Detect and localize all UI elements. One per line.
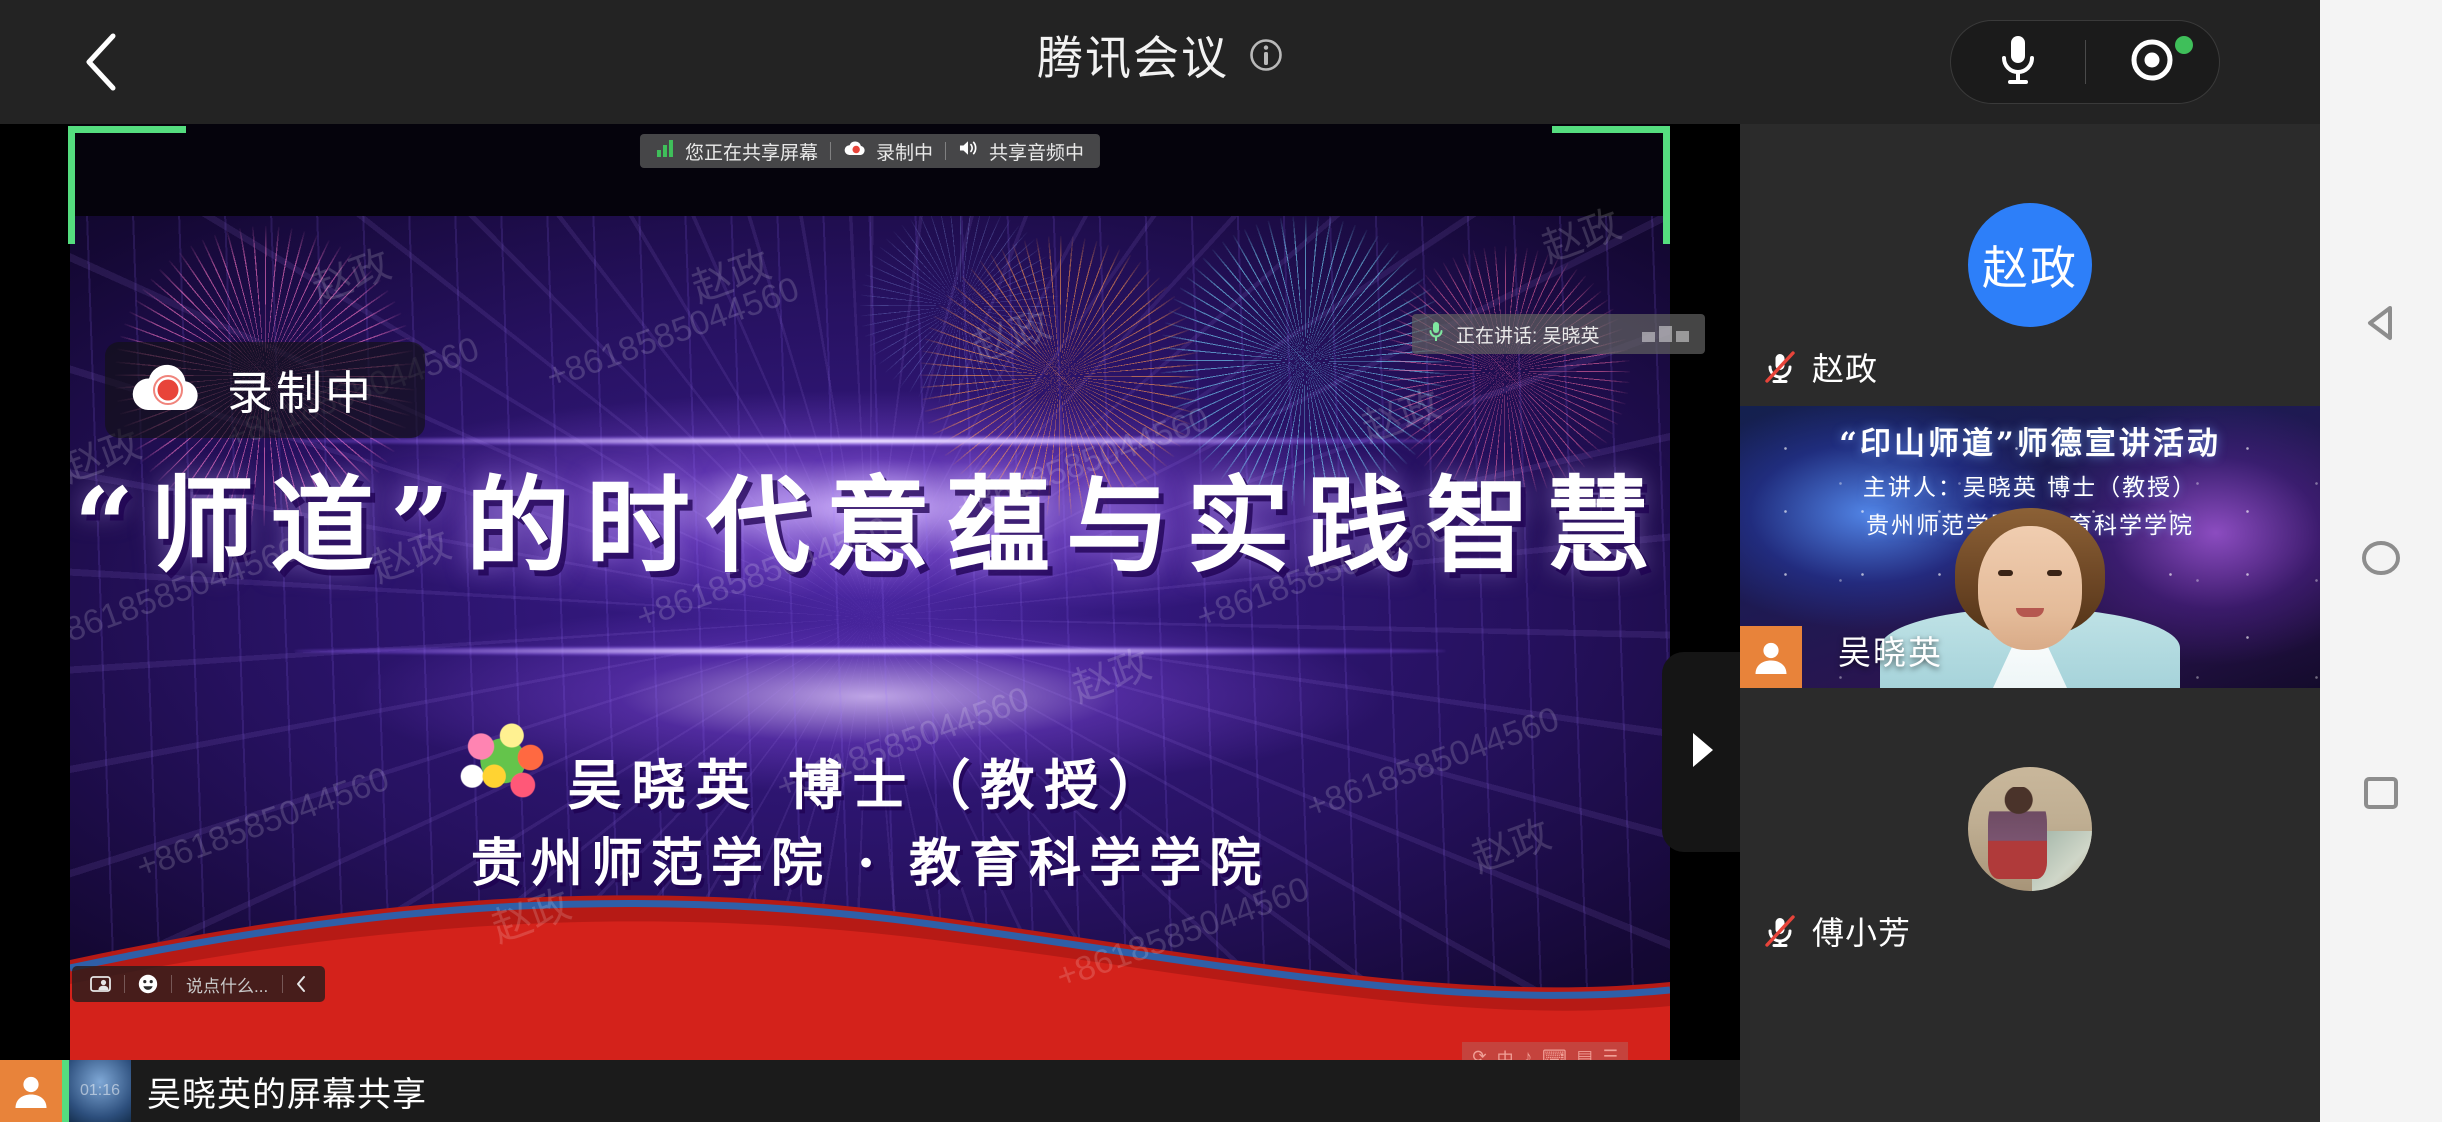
participant-name: 傅小芳 <box>1812 908 1911 954</box>
share-thumbnail[interactable]: 01:16 <box>69 1060 131 1122</box>
participant-tile-wuxiaoying[interactable]: “印山师道”师德宣讲活动 主讲人：吴晓英 博士（教授） 贵州师范学院 · 教育科… <box>1740 406 2320 688</box>
shared-screen-stage[interactable]: “师道”的时代意蕴与实践智慧 吴晓英 博士（教授） 贵州师范学院 · 教育科学学… <box>0 124 1740 1122</box>
avatar: 赵政 <box>1968 203 2092 327</box>
person-icon <box>0 1060 62 1122</box>
share-status-recording: 录制中 <box>843 138 933 165</box>
slide-presenter: 吴晓英 博士（教授） <box>70 741 1670 820</box>
participant-name: 吴晓英 <box>1838 626 1943 674</box>
share-status-bar: 您正在共享屏幕 录制中 <box>640 134 1100 168</box>
microphone-muted-icon <box>1762 349 1798 385</box>
record-active-indicator <box>2175 36 2193 54</box>
nav-back-button[interactable] <box>2320 275 2442 375</box>
sharer-bottom-bar: 01:16 吴晓英的屏幕共享 <box>0 1060 1740 1122</box>
info-circle-icon[interactable] <box>1249 38 1283 72</box>
avatar <box>1968 767 2092 891</box>
chevron-left-icon <box>79 30 125 94</box>
page-title: 腾讯会议 <box>1037 22 1229 88</box>
participant-tile-fuxiaofang[interactable]: 傅小芳 <box>1740 688 2320 970</box>
signal-bars-icon <box>656 139 676 163</box>
share-status-sharing: 您正在共享屏幕 <box>656 138 818 165</box>
speaking-indicator-label: 正在讲话: 吴晓英 <box>1456 321 1600 348</box>
share-status-sharing-label: 您正在共享屏幕 <box>685 138 818 165</box>
app-top-bar: 腾讯会议 <box>0 0 2320 124</box>
participants-panel[interactable]: 赵政 赵政 “印山师道”师德宣讲活动 主讲人：吴晓英 博士（教授） <box>1740 124 2320 1122</box>
status-divider <box>830 142 831 160</box>
share-status-audio: 共享音频中 <box>958 138 1084 165</box>
back-button[interactable] <box>70 30 134 94</box>
sharer-label: 吴晓英的屏幕共享 <box>147 1067 427 1116</box>
slide-title: “师道”的时代意蕴与实践智慧 <box>70 441 1670 592</box>
nav-recents-button[interactable] <box>2320 745 2442 845</box>
video-overlay-line1: 主讲人：吴晓英 博士（教授） <box>1740 468 2320 502</box>
microphone-icon <box>1995 31 2041 94</box>
triangle-right-icon <box>1685 729 1719 776</box>
participant-name: 赵政 <box>1812 344 1878 390</box>
share-thumbnail-time: 01:16 <box>69 1060 131 1122</box>
audio-wave-icon <box>1642 326 1689 342</box>
emoji-smile-icon[interactable] <box>125 966 171 1002</box>
recording-badge-label: 录制中 <box>227 357 374 423</box>
shared-screen-canvas: “师道”的时代意蕴与实践智慧 吴晓英 博士（教授） 贵州师范学院 · 教育科学学… <box>70 124 1670 1074</box>
speaker-icon <box>958 139 980 163</box>
share-status-audio-label: 共享音频中 <box>989 138 1084 165</box>
person-icon <box>1740 626 1802 688</box>
microphone-button[interactable] <box>1951 20 2085 104</box>
annotate-icon[interactable] <box>78 966 124 1002</box>
share-active-line <box>62 1060 69 1122</box>
participant-name-row: 傅小芳 <box>1762 908 1911 954</box>
record-camera-button[interactable] <box>2086 20 2220 104</box>
participant-name-row: 赵政 <box>1762 344 1878 390</box>
microphone-icon <box>1428 320 1444 349</box>
annotation-mini-toolbar[interactable]: 说点什么... <box>72 966 325 1002</box>
panel-collapse-handle[interactable] <box>1662 652 1740 852</box>
participant-tile-zhaozheng[interactable]: 赵政 赵政 <box>1740 124 2320 406</box>
triangle-left-icon <box>2358 300 2404 351</box>
top-actions-group <box>1950 20 2220 104</box>
status-divider <box>945 142 946 160</box>
meeting-screen: 腾讯会议 <box>0 0 2442 1122</box>
record-camera-icon <box>2127 35 2177 90</box>
chat-input-placeholder[interactable]: 说点什么... <box>172 972 282 997</box>
circle-icon <box>2358 535 2404 586</box>
chevron-left-icon[interactable] <box>283 966 319 1002</box>
speaking-indicator: 正在讲话: 吴晓英 <box>1412 314 1705 354</box>
share-status-recording-label: 录制中 <box>876 138 933 165</box>
square-icon <box>2358 770 2404 821</box>
cloud-record-icon <box>131 360 201 421</box>
nav-home-button[interactable] <box>2320 510 2442 610</box>
recording-badge: 录制中 <box>105 342 425 438</box>
slide-light-bar <box>294 646 1446 656</box>
android-navigation-bar <box>2320 0 2442 1122</box>
cloud-record-icon <box>843 139 867 163</box>
video-overlay-title: “印山师道”师德宣讲活动 <box>1740 418 2320 463</box>
microphone-muted-icon <box>1762 913 1798 949</box>
